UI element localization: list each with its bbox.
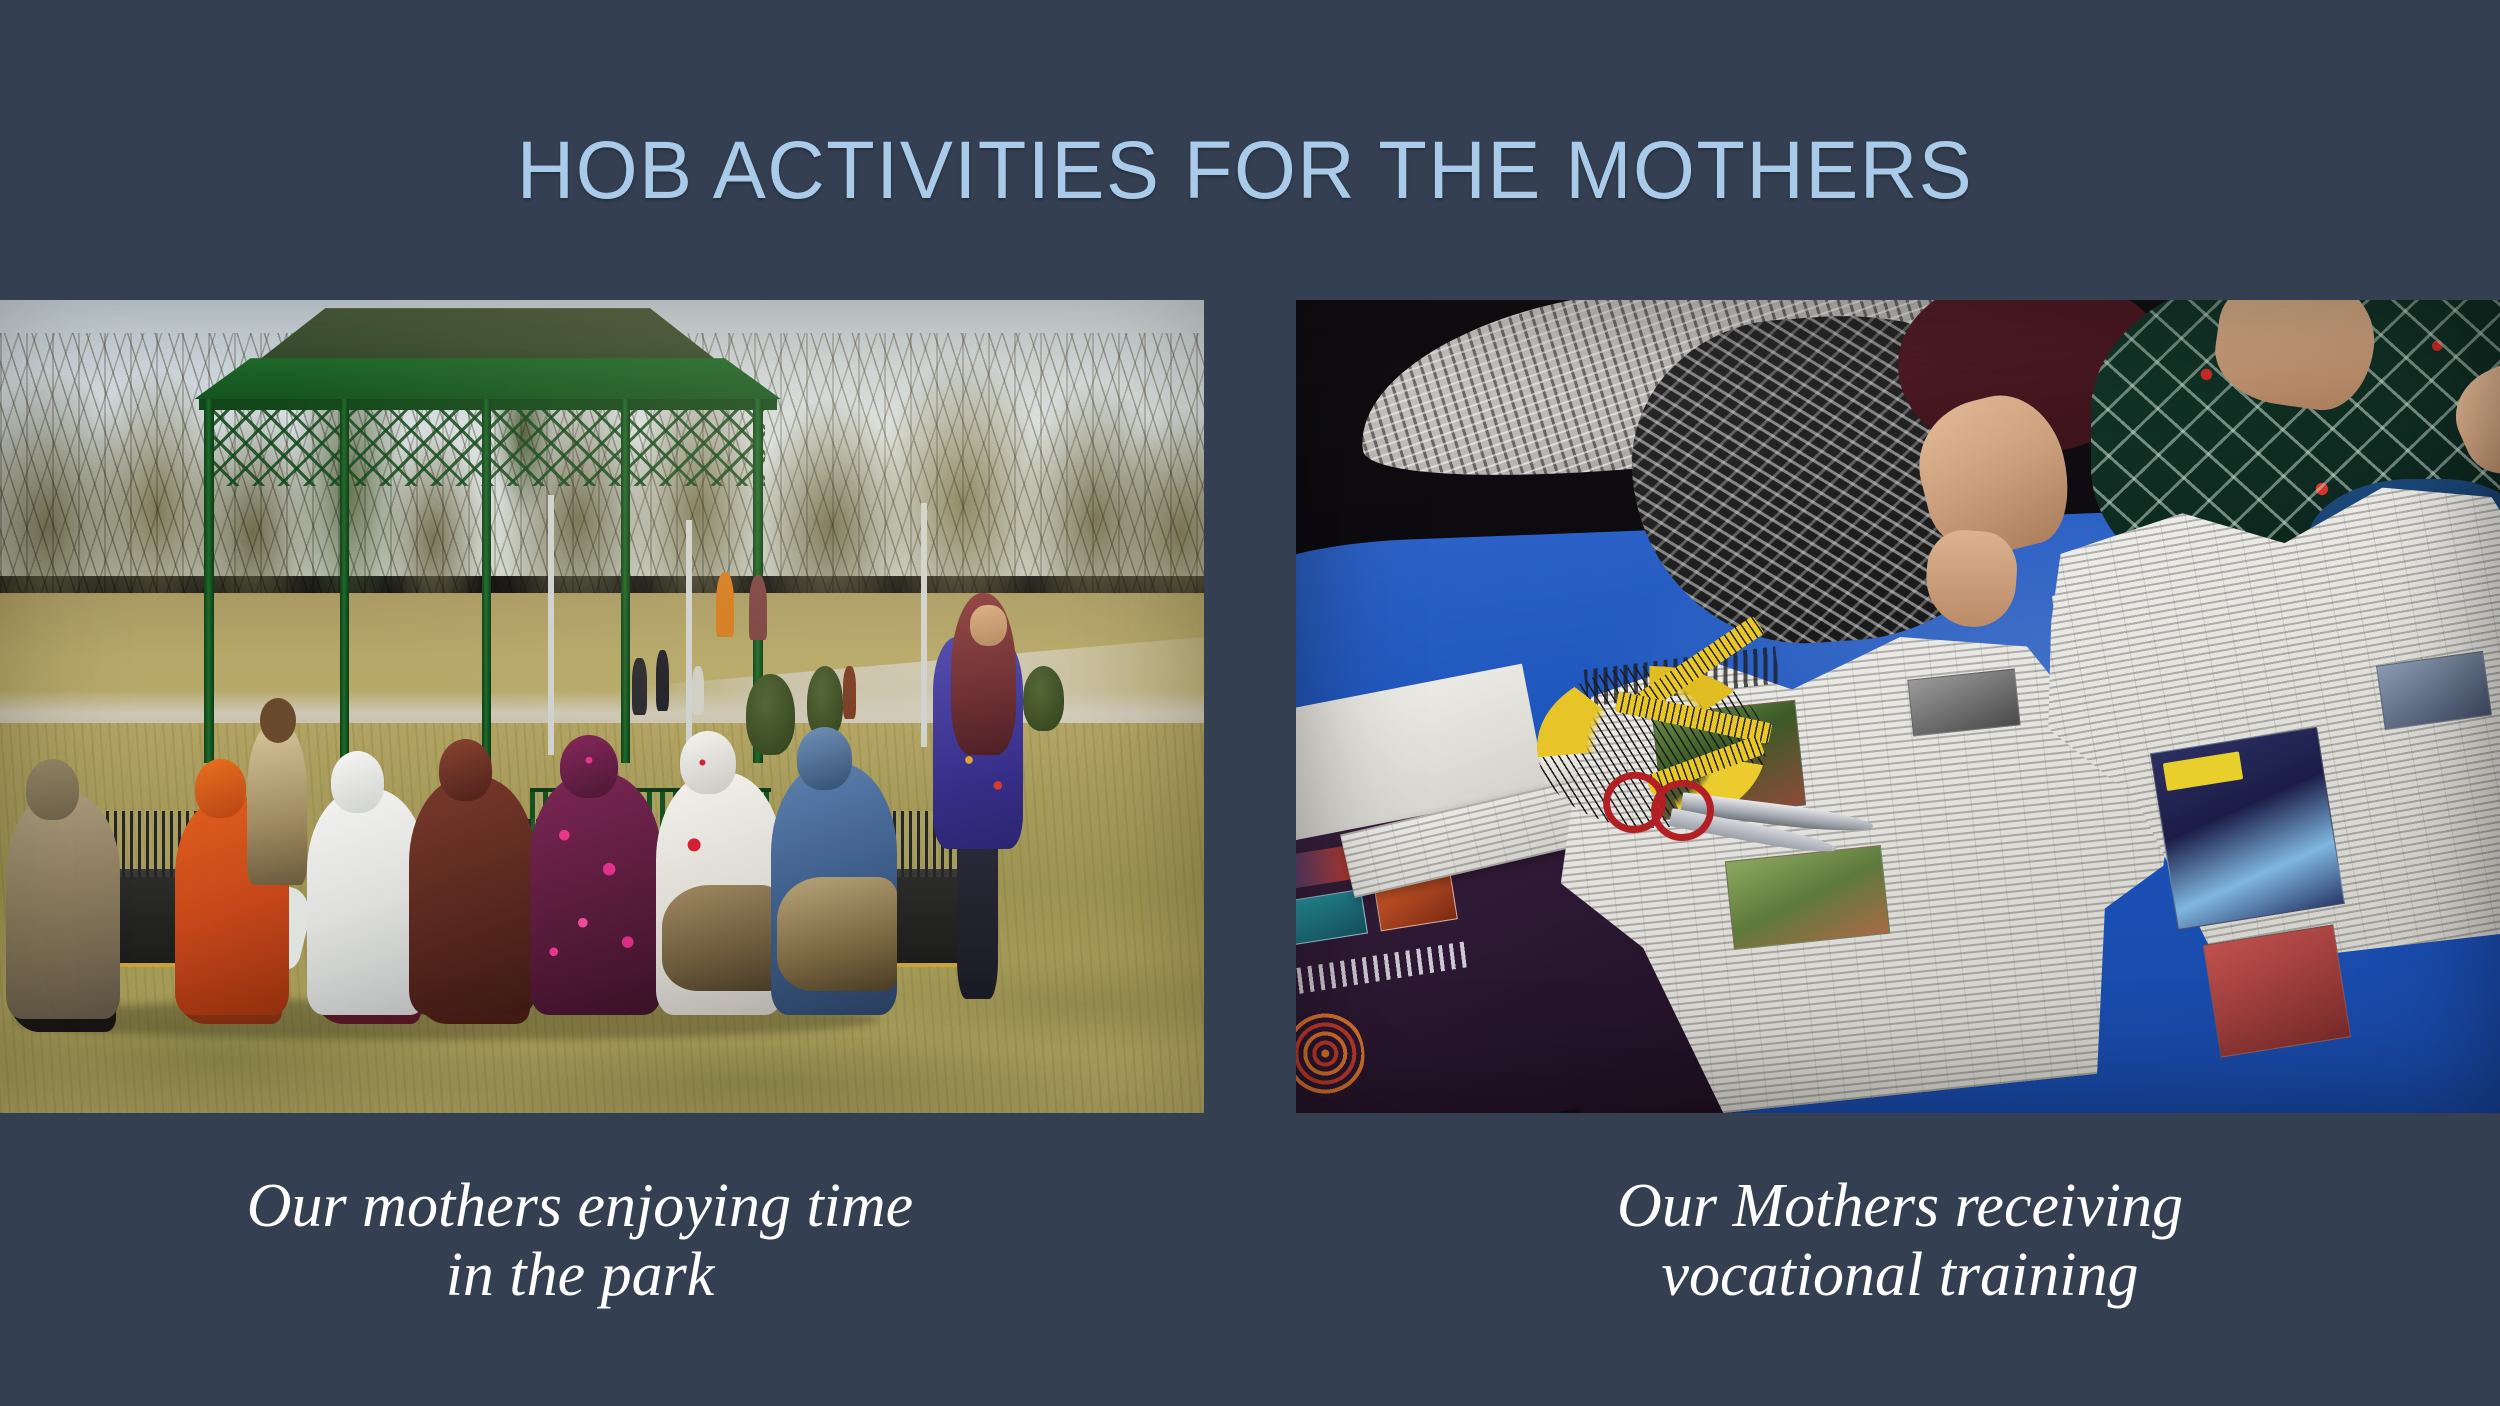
park-photo xyxy=(0,300,1204,1113)
caption-right-line1: Our Mothers receiving xyxy=(1320,1172,2480,1241)
caption-right: Our Mothers receiving vocational trainin… xyxy=(1320,1172,2480,1311)
caption-left-line1: Our mothers enjoying time xyxy=(0,1172,1160,1241)
vocational-photo xyxy=(1296,300,2500,1113)
page-title: HOB ACTIVITIES FOR THE MOTHERS xyxy=(33,130,2458,212)
vocational-scene xyxy=(1296,300,2500,1113)
caption-left-line2: in the park xyxy=(0,1241,1160,1310)
photo-vignette xyxy=(1296,300,2500,1113)
park-scene xyxy=(0,300,1204,1113)
caption-right-line2: vocational training xyxy=(1320,1241,2480,1310)
caption-left: Our mothers enjoying time in the park xyxy=(0,1172,1160,1311)
photo-vignette xyxy=(0,300,1204,1113)
slide-canvas: HOB ACTIVITIES FOR THE MOTHERS xyxy=(0,0,2500,1406)
